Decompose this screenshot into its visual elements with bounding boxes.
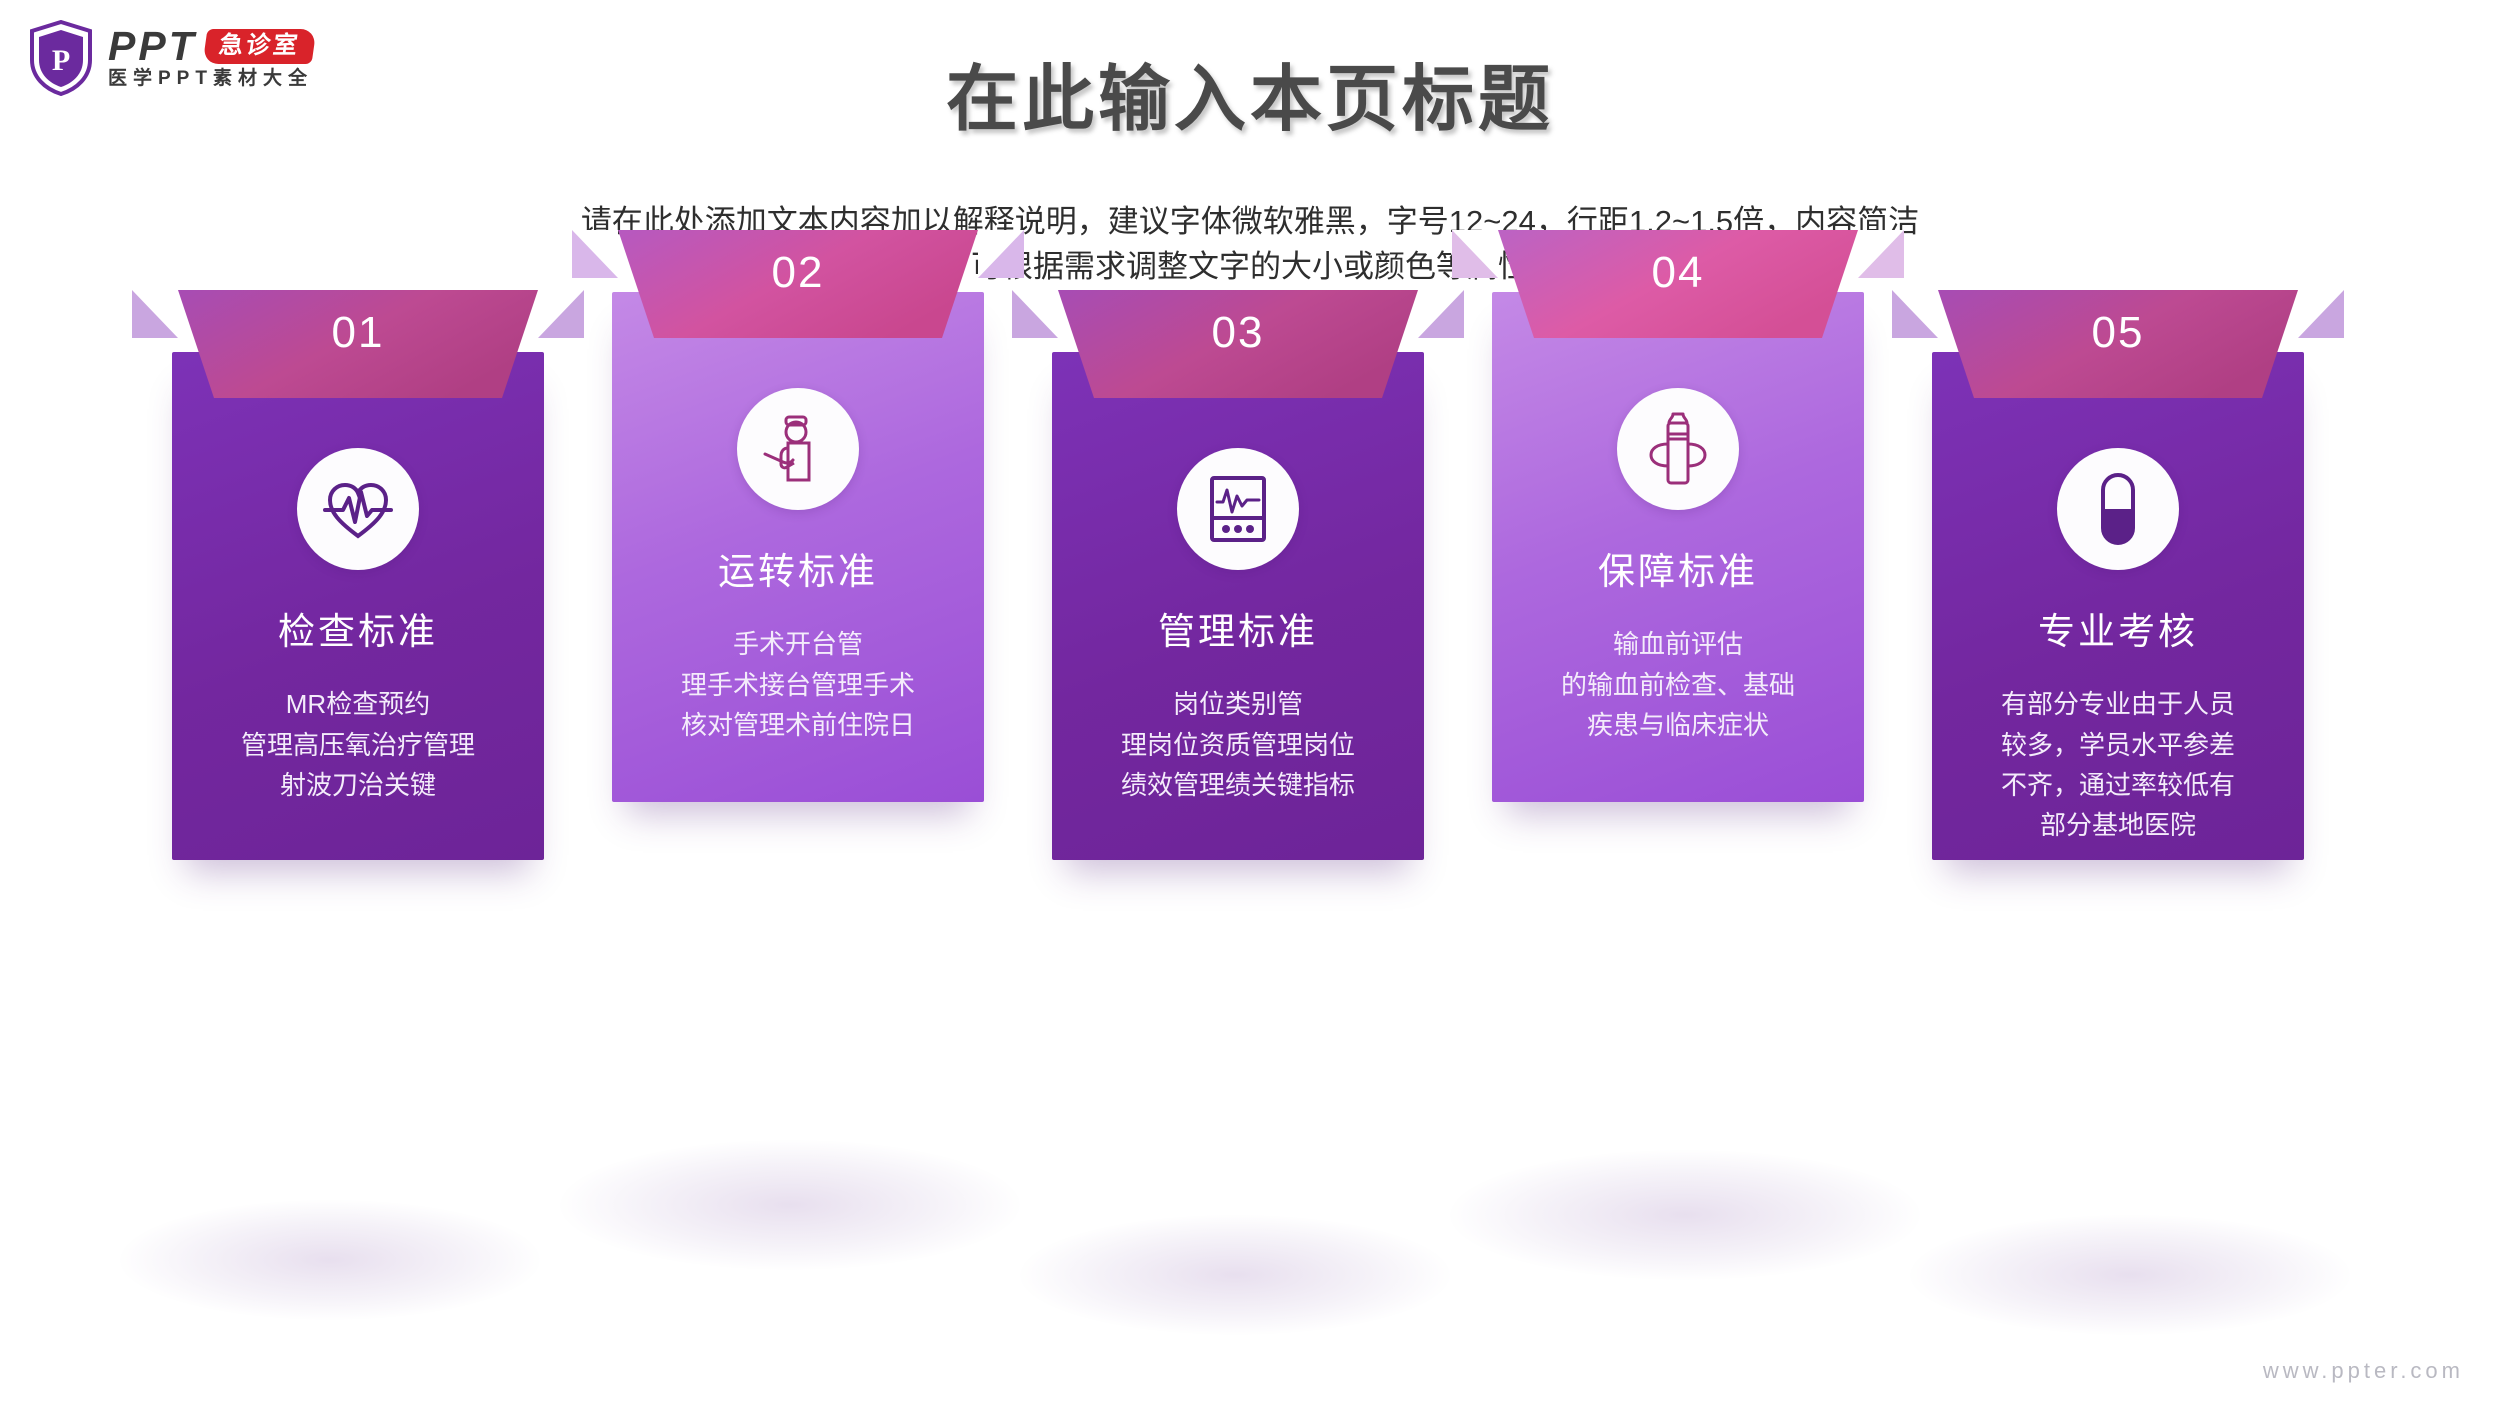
card-title: 运转标准 [718,550,878,594]
card-number: 05 [1892,308,2344,358]
card-body: 专业考核 有部分专业由于人员 较多，学员水平参差 不齐，通过率较低有 部分基地医… [1932,352,2304,860]
floor-reflection [560,1140,1020,1270]
card-desc-line: 管理高压氧治疗管理 [241,725,475,765]
floor-reflection [1450,1150,1920,1280]
card-desc-line: 部分基地医院 [2001,805,2235,845]
ecg-monitor-icon [1177,448,1299,570]
card-body: 保障标准 输血前评估 的输血前检查、基础 疾患与临床症状 [1492,292,1864,802]
card-desc-line: 疾患与临床症状 [1561,705,1795,745]
card-desc-line: 不齐，通过率较低有 [2001,765,2235,805]
heart-pulse-icon [297,448,419,570]
card-body: 检查标准 MR检查预约 管理高压氧治疗管理 射波刀治关键 [172,352,544,860]
floor-reflection [1020,1215,1450,1335]
card-description: 有部分专业由于人员 较多，学员水平参差 不齐，通过率较低有 部分基地医院 [1985,684,2251,845]
card-description: 手术开台管 理手术接台管理手术 核对管理术前住院日 [665,624,931,745]
card-desc-line: 核对管理术前住院日 [681,705,915,745]
floor-reflection [1910,1215,2350,1335]
card-desc-line: 较多，学员水平参差 [2001,725,2235,765]
footer-url: www.ppter.com [2263,1358,2464,1384]
card-title: 保障标准 [1598,550,1758,594]
card-description: MR检查预约 管理高压氧治疗管理 射波刀治关键 [225,684,491,805]
card-desc-line: 理手术接台管理手术 [681,665,915,705]
card-title: 专业考核 [2038,610,2198,654]
card-number: 02 [572,248,1024,298]
card-desc-line: MR检查预约 [241,684,475,724]
card-desc-line: 岗位类别管 [1121,684,1355,724]
card-desc-line: 手术开台管 [681,624,915,664]
card-number: 01 [132,308,584,358]
card-body: 管理标准 岗位类别管 理岗位资质管理岗位 绩效管理绩关键指标 [1052,352,1424,860]
card-desc-line: 绩效管理绩关键指标 [1121,765,1355,805]
card-number: 03 [1012,308,1464,358]
nurse-hand-icon [737,388,859,510]
card-group: 01 检查标准 MR检查预约 管理高压氧治疗管理 射波刀治关键 [0,0,2500,1406]
card-title: 检查标准 [278,610,438,654]
card-desc-line: 射波刀治关键 [241,765,475,805]
card-desc-line: 输血前评估 [1561,624,1795,664]
capsule-pill-icon [2057,448,2179,570]
blood-bag-icon [1617,388,1739,510]
card-description: 岗位类别管 理岗位资质管理岗位 绩效管理绩关键指标 [1105,684,1371,805]
card-desc-line: 的输血前检查、基础 [1561,665,1795,705]
card-desc-line: 理岗位资质管理岗位 [1121,725,1355,765]
card-number: 04 [1452,248,1904,298]
card-title: 管理标准 [1158,610,1318,654]
floor-reflection [120,1200,540,1320]
card-body: 运转标准 手术开台管 理手术接台管理手术 核对管理术前住院日 [612,292,984,802]
card-desc-line: 有部分专业由于人员 [2001,684,2235,724]
card-description: 输血前评估 的输血前检查、基础 疾患与临床症状 [1545,624,1811,745]
